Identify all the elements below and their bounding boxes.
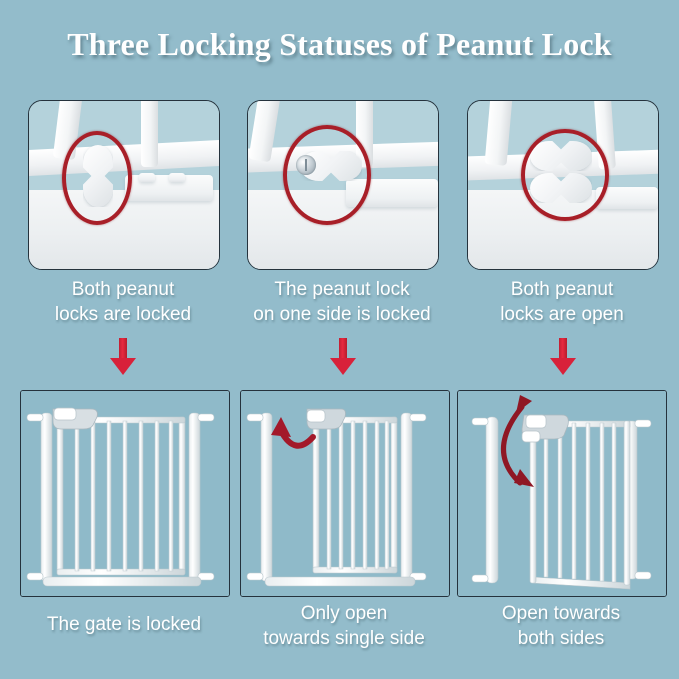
caption-line-2: on one side is locked — [240, 302, 444, 327]
photo-panel-both-locked — [28, 100, 220, 270]
arrow-shaft — [339, 338, 347, 360]
lock-photo-both-open — [468, 101, 658, 269]
red-highlight-circle — [521, 129, 609, 221]
gate-one-way-drawing — [241, 391, 449, 596]
arrow-down-icon-right — [550, 338, 576, 374]
lock-photo-one-side-locked — [248, 101, 438, 269]
arrow-shaft — [119, 338, 127, 360]
gate-panel-both-sides — [457, 390, 667, 597]
gate-two-way-drawing — [458, 391, 666, 596]
caption-line-1: Both peanut — [28, 277, 218, 302]
caption-line-2: towards single side — [236, 626, 452, 651]
gate-illustration-closed — [21, 391, 229, 596]
gate-illustration-one-way — [241, 391, 449, 596]
infographic-page: Three Locking Statuses of Peanut Lock — [0, 0, 679, 679]
caption-line-2: locks are open — [467, 302, 657, 327]
photo-panel-one-side-locked — [247, 100, 439, 270]
arrow-head — [550, 358, 576, 375]
caption-both-locked: Both peanut locks are locked — [28, 277, 218, 327]
arrow-down-icon-middle — [330, 338, 356, 374]
gate-foot-notch-b — [169, 173, 185, 182]
caption-line-1: The gate is locked — [20, 612, 228, 637]
caption-line-1: Both peanut — [467, 277, 657, 302]
arrow-shaft — [559, 338, 567, 360]
gate-closed-drawing — [21, 391, 229, 596]
caption-one-side-locked: The peanut lock on one side is locked — [240, 277, 444, 327]
caption-line-1: Only open — [236, 601, 452, 626]
arrow-head — [110, 358, 136, 375]
red-highlight-circle — [283, 125, 371, 225]
photo-panel-both-open — [467, 100, 659, 270]
arrow-head — [330, 358, 356, 375]
gate-panel-single-side — [240, 390, 450, 597]
arrow-down-icon-left — [110, 338, 136, 374]
gate-illustration-two-way — [458, 391, 666, 596]
caption-line-1: The peanut lock — [240, 277, 444, 302]
gate-panel-locked — [20, 390, 230, 597]
caption-gate-locked: The gate is locked — [20, 612, 228, 637]
red-highlight-circle — [62, 131, 132, 225]
gate-foot-notch-a — [139, 173, 155, 182]
caption-gate-single-side: Only open towards single side — [236, 601, 452, 651]
caption-line-2: locks are locked — [28, 302, 218, 327]
lock-photo-both-locked — [29, 101, 219, 269]
caption-both-open: Both peanut locks are open — [467, 277, 657, 327]
page-title: Three Locking Statuses of Peanut Lock — [0, 26, 679, 63]
caption-line-2: both sides — [457, 626, 665, 651]
caption-gate-both-sides: Open towards both sides — [457, 601, 665, 651]
caption-line-1: Open towards — [457, 601, 665, 626]
gate-vertical-bar-right — [141, 100, 158, 167]
